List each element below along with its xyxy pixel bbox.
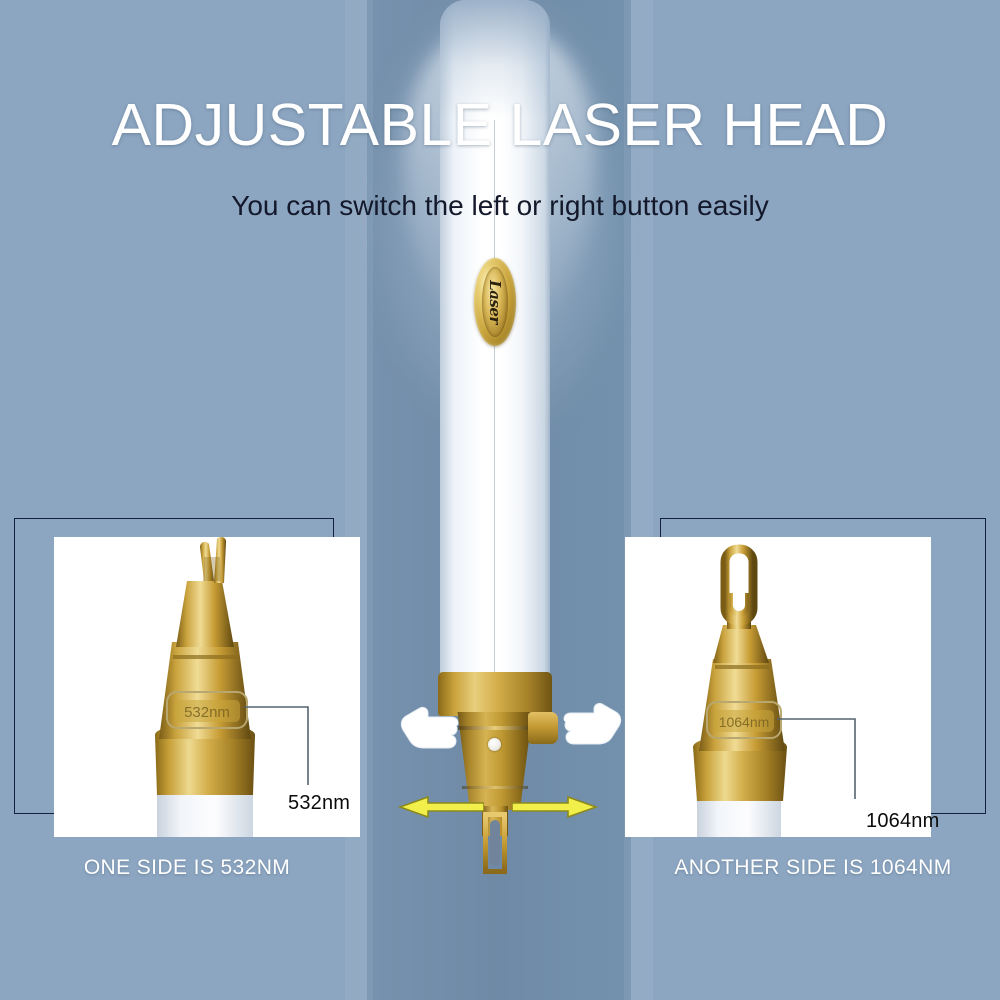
device-side-switch-tab[interactable] bbox=[528, 712, 558, 744]
device-emblem-label: Laser bbox=[486, 280, 504, 324]
page-title: ADJUSTABLE LASER HEAD bbox=[0, 96, 1000, 155]
panel-left-leader-line bbox=[244, 707, 308, 785]
panel-left-caption: ONE SIDE IS 532NM bbox=[14, 856, 360, 880]
panel-right-leader-line bbox=[777, 719, 855, 799]
hand-pointing-left-icon-right-side bbox=[562, 696, 624, 748]
device-tip-loop bbox=[483, 812, 507, 874]
hand-pointing-left-icon bbox=[398, 700, 460, 752]
arrow-left-icon bbox=[398, 796, 484, 818]
panel-right-callout: 1064nm bbox=[866, 810, 939, 833]
panel-right-photo: 1064nm bbox=[625, 537, 931, 837]
panel-right-caption: ANOTHER SIDE IS 1064NM bbox=[640, 856, 986, 880]
device-emblem-inner: Laser bbox=[482, 267, 508, 337]
page-subtitle: You can switch the left or right button … bbox=[0, 192, 1000, 220]
panel-left-callout: 532nm bbox=[288, 792, 350, 815]
device-indicator-dot bbox=[488, 738, 501, 751]
device-gold-ring-lower bbox=[462, 786, 528, 789]
device-emblem: Laser bbox=[474, 258, 516, 346]
product-marketing-image: Laser ADJUSTABLE L bbox=[0, 0, 1000, 1000]
device-gold-ring-upper bbox=[458, 726, 532, 730]
arrow-right-icon bbox=[512, 796, 598, 818]
